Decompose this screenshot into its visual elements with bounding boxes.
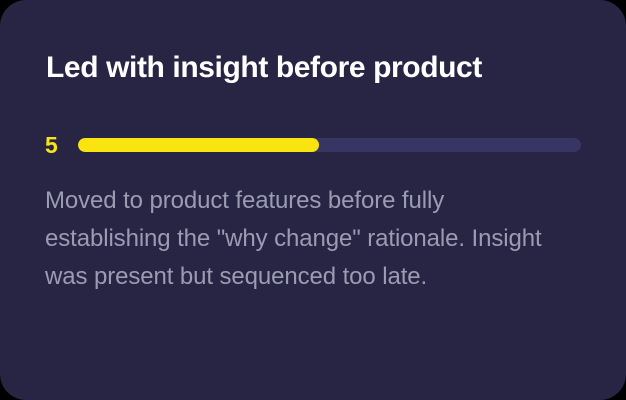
score-row: 5 [45,131,581,159]
card-title: Led with insight before product [46,50,586,86]
score-value: 5 [45,134,78,157]
insight-score-card: Led with insight before product 5 Moved … [0,0,626,400]
score-progress-track [78,138,581,152]
score-progress-fill [78,138,319,152]
card-body-text: Moved to product features before fully e… [45,182,575,296]
